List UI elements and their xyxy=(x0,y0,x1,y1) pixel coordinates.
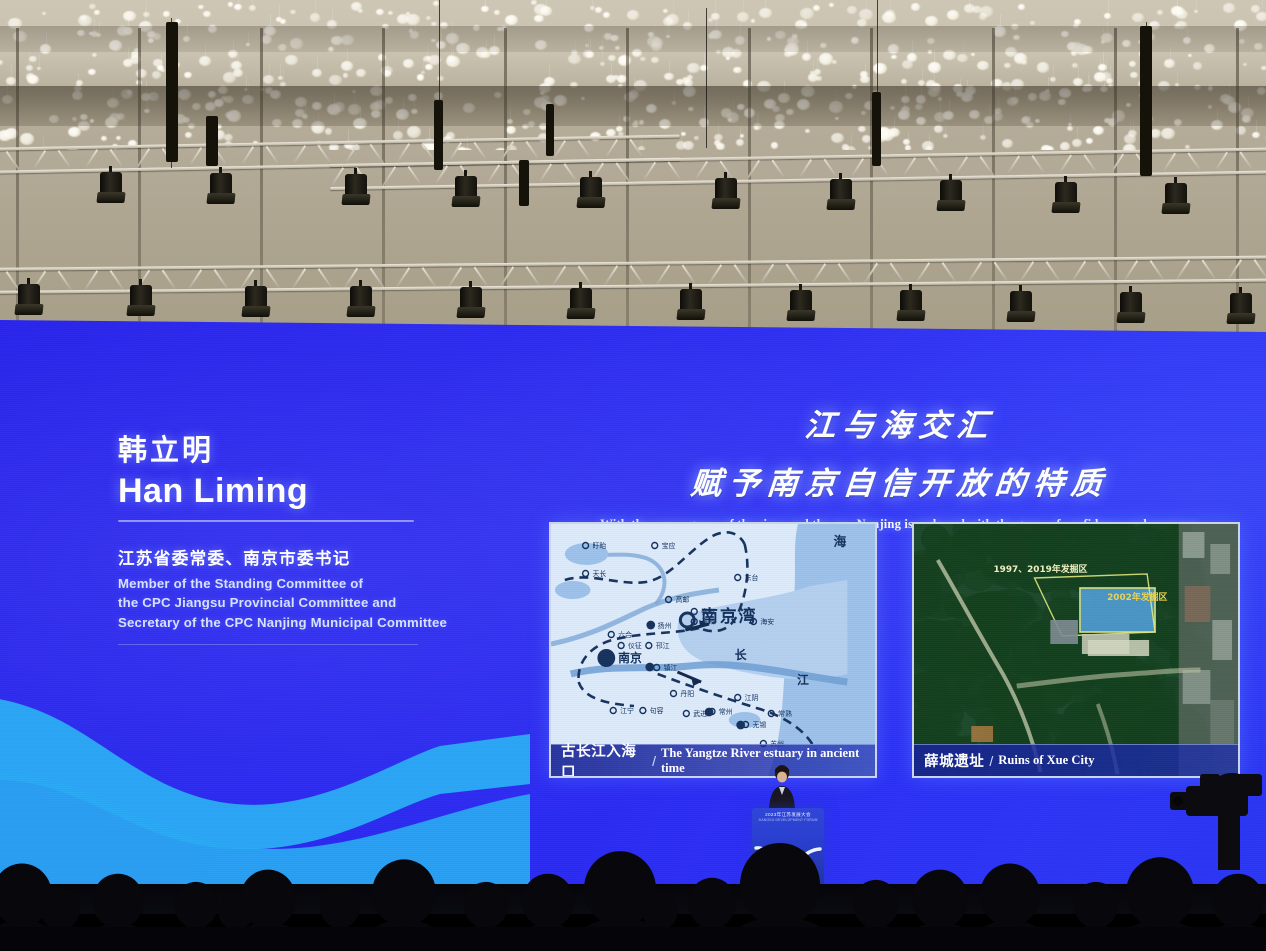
speaker-name-en: Han Liming xyxy=(118,472,478,510)
caption-separator: / xyxy=(989,753,993,769)
satellite-photo-graphic: 1997、2019年发掘区2002年发掘区 xyxy=(914,524,1238,776)
svg-text:宝应: 宝应 xyxy=(662,541,676,550)
speaker-title-en-line2: the CPC Jiangsu Provincial Committee and xyxy=(118,593,478,612)
slide-headline: 江与海交汇 赋予南京自信开放的特质 With the convergence o… xyxy=(560,400,1240,532)
rigging-hoist xyxy=(434,100,443,170)
rigging-hoist xyxy=(546,104,554,156)
svg-text:邗江: 邗江 xyxy=(656,642,670,650)
svg-text:天长: 天长 xyxy=(592,569,606,578)
conference-stage-photo: 韩立明 Han Liming 江苏省委常委、南京市委书记 Member of t… xyxy=(0,0,1266,951)
rigging-cable xyxy=(706,8,707,148)
svg-text:海: 海 xyxy=(834,534,847,550)
svg-text:镇江: 镇江 xyxy=(664,663,678,672)
caption-en: Ruins of Xue City xyxy=(998,753,1094,768)
venue-ceiling xyxy=(0,0,1266,340)
svg-text:盱眙: 盱眙 xyxy=(592,541,606,550)
svg-text:常州: 常州 xyxy=(719,707,733,716)
headline-line2-cn: 赋予南京自信开放的特质 xyxy=(558,458,1242,503)
rigging-hoist xyxy=(1140,26,1152,176)
svg-text:丹阳: 丹阳 xyxy=(680,689,694,698)
slide-image-cards: 南京湾南京海长江扬州泰州六合仪征邗江镇江丹阳武进常州江阴无锡江宁句容海安东台高邮… xyxy=(549,522,1240,777)
svg-text:长: 长 xyxy=(735,648,748,662)
svg-text:句容: 句容 xyxy=(650,706,664,715)
audience-silhouettes xyxy=(0,831,1266,951)
svg-text:常熟: 常熟 xyxy=(778,709,792,718)
presenter-at-podium xyxy=(762,762,802,812)
svg-text:江宁: 江宁 xyxy=(620,706,634,715)
caption-separator: / xyxy=(652,753,656,769)
svg-text:南京: 南京 xyxy=(618,651,642,665)
svg-text:海安: 海安 xyxy=(760,617,774,626)
svg-text:泰州: 泰州 xyxy=(701,607,715,616)
svg-text:仪征: 仪征 xyxy=(628,641,642,650)
podium-sign: 2023年江苏发展大会 JIANGSU DEVELOPMENT FORUM xyxy=(752,812,824,822)
rigging-hoist xyxy=(166,22,178,162)
svg-text:扬州: 扬州 xyxy=(658,621,672,630)
headline-line1-cn: 江与海交汇 xyxy=(558,400,1242,445)
identity-divider xyxy=(118,520,414,522)
svg-text:泰州: 泰州 xyxy=(701,617,715,626)
card-ruins-of-xue-city: 1997、2019年发掘区2002年发掘区 薛城遗址 / Ruins of Xu… xyxy=(912,522,1240,778)
speaker-title-en-line3: Secretary of the CPC Nanjing Municipal C… xyxy=(118,613,478,632)
rigging-hoist xyxy=(872,92,881,166)
svg-text:东台: 东台 xyxy=(745,573,759,582)
svg-text:六合: 六合 xyxy=(618,630,632,639)
card-caption: 古长江入海口 / The Yangtze River estuary in an… xyxy=(551,744,875,776)
svg-text:武进: 武进 xyxy=(693,709,707,718)
svg-text:高邮: 高邮 xyxy=(675,595,689,604)
speaker-title-en-line1: Member of the Standing Committee of xyxy=(118,574,478,593)
svg-text:无锡: 无锡 xyxy=(753,720,767,729)
speaker-title-cn: 江苏省委常委、南京市委书记 xyxy=(118,548,478,570)
svg-text:江: 江 xyxy=(797,673,809,687)
card-ancient-yangtze-map: 南京湾南京海长江扬州泰州六合仪征邗江镇江丹阳武进常州江阴无锡江宁句容海安东台高邮… xyxy=(549,522,877,778)
podium-sign-en: JIANGSU DEVELOPMENT FORUM xyxy=(752,818,824,822)
svg-text:江阴: 江阴 xyxy=(745,693,759,702)
rigging-hoist xyxy=(206,116,218,166)
led-presentation-screen: 韩立明 Han Liming 江苏省委常委、南京市委书记 Member of t… xyxy=(0,318,1266,884)
caption-cn: 薛城遗址 xyxy=(924,750,984,771)
caption-cn: 古长江入海口 xyxy=(561,740,647,779)
speaker-name-cn: 韩立明 xyxy=(118,436,478,468)
rigging-hoist xyxy=(519,160,529,206)
svg-text:1997、2019年发掘区: 1997、2019年发掘区 xyxy=(994,563,1088,575)
svg-text:2002年发掘区: 2002年发掘区 xyxy=(1107,591,1167,603)
historical-map-graphic: 南京湾南京海长江扬州泰州六合仪征邗江镇江丹阳武进常州江阴无锡江宁句容海安东台高邮… xyxy=(551,524,875,776)
speaker-identity-block: 韩立明 Han Liming 江苏省委常委、南京市委书记 Member of t… xyxy=(118,436,478,645)
identity-divider-bottom xyxy=(118,644,418,645)
